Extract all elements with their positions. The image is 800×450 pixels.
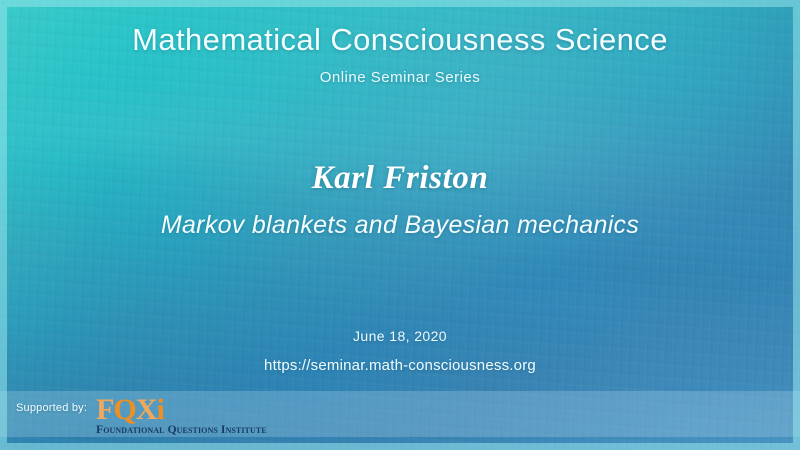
fqxi-letter-q: Q — [113, 393, 135, 426]
sponsor-strip: Supported by: FQXi Foundational Question… — [16, 396, 267, 436]
fqxi-logo-tagline: Foundational Questions Institute — [96, 425, 267, 437]
speaker-name: Karl Friston — [0, 160, 800, 197]
series-subtitle: Online Seminar Series — [0, 69, 800, 86]
seminar-url[interactable]: https://seminar.math-consciousness.org — [0, 357, 800, 374]
slide-header: Mathematical Consciousness Science Onlin… — [0, 22, 800, 86]
fqxi-letter-x: X — [136, 393, 157, 426]
talk-title: Markov blankets and Bayesian mechanics — [0, 211, 800, 240]
speaker-block: Karl Friston Markov blankets and Bayesia… — [0, 160, 800, 240]
slide-meta: June 18, 2020 https://seminar.math-consc… — [0, 328, 800, 374]
fqxi-logo[interactable]: FQXi Foundational Questions Institute — [96, 396, 267, 436]
fqxi-letter-i: i — [156, 393, 163, 426]
fqxi-letter-f: F — [96, 393, 113, 426]
fqxi-logo-wordmark: FQXi — [96, 396, 164, 424]
series-title: Mathematical Consciousness Science — [0, 22, 800, 58]
supported-by-label: Supported by: — [16, 396, 87, 414]
seminar-date: June 18, 2020 — [0, 328, 800, 344]
seminar-title-slide: Mathematical Consciousness Science Onlin… — [0, 0, 800, 450]
